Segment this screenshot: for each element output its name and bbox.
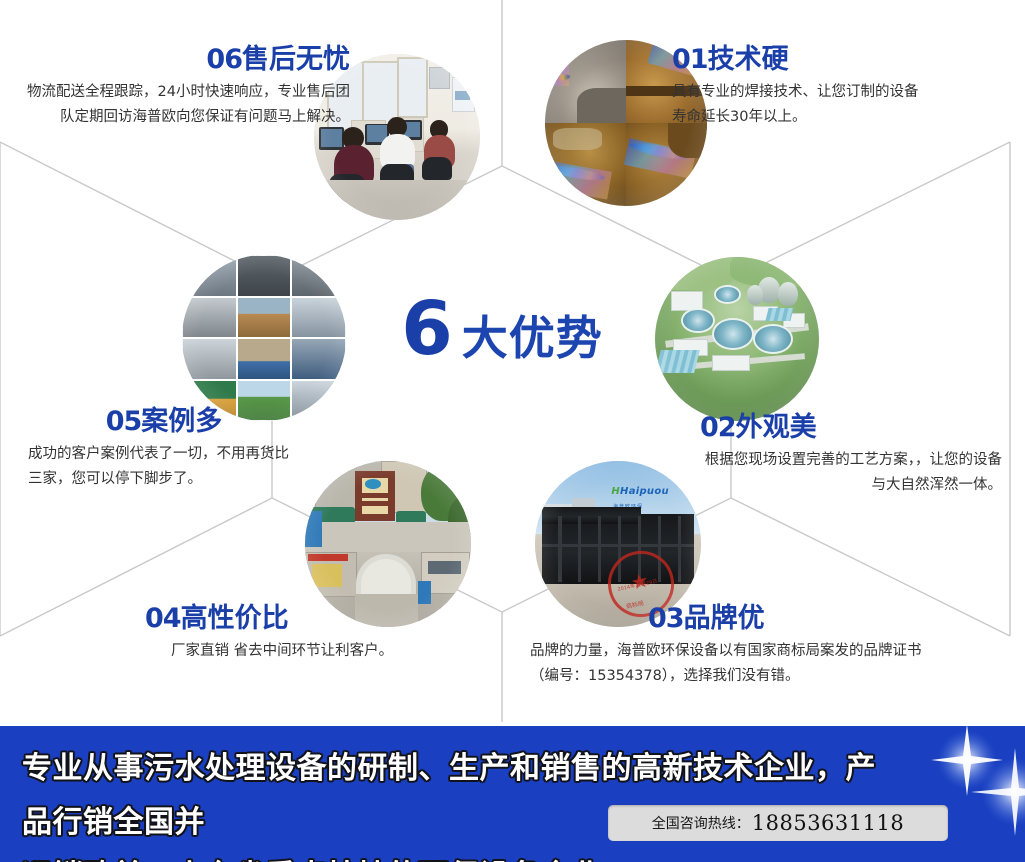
feature-01-body: 具有专业的焊接技术、让您订制的设备寿命延长30年以上。 — [672, 80, 924, 130]
feature-04: 04高性价比 厂家直销 省去中间环节让利客户。 — [145, 603, 435, 664]
banner-line-2: 远销欧美，山东省重点扶持的环保设备企业。 — [22, 850, 902, 862]
feature-02-number: 02 — [700, 412, 736, 443]
center-title: 6 大优势 — [382, 292, 622, 370]
feature-03-number: 03 — [648, 603, 684, 634]
feature-01-number: 01 — [672, 44, 708, 75]
feature-03-title: 品牌优 — [684, 603, 765, 634]
center-word: 大优势 — [462, 315, 603, 361]
feature-01-title: 技术硬 — [708, 44, 789, 75]
feature-06-title: 售后无忧 — [242, 44, 350, 75]
advantages-infographic: 6 大优势 — [0, 0, 1025, 862]
feature-04-number: 04 — [145, 603, 181, 634]
feature-03-heading: 03品牌优 — [648, 603, 930, 635]
feature-06-number: 06 — [206, 44, 242, 75]
banner-text: 专业从事污水处理设备的研制、生产和销售的高新技术企业，产品行销全国并 远销欧美，… — [22, 742, 902, 862]
equipment-brand-logo: HHaipuou — [611, 486, 669, 497]
feature-06-heading: 06售后无忧 — [20, 44, 350, 76]
feature-04-title: 高性价比 — [181, 603, 289, 634]
feature-05-title: 案例多 — [141, 406, 222, 437]
feature-02-heading: 02外观美 — [700, 412, 1002, 444]
feature-03: 03品牌优 品牌的力量，海普欧环保设备以有国家商标局案发的品牌证书（编号：153… — [530, 603, 930, 689]
feature-05: 05案例多 成功的客户案例代表了一切，不用再货比三家，您可以停下脚步了。 — [28, 406, 300, 492]
feature-04-heading: 04高性价比 — [145, 603, 435, 635]
sparkle-icon — [905, 726, 1025, 862]
feature-05-body: 成功的客户案例代表了一切，不用再货比三家，您可以停下脚步了。 — [28, 442, 300, 492]
feature-02: 02外观美 根据您现场设置完善的工艺方案，，让您的设备与大自然浑然一体。 — [700, 412, 1002, 498]
feature-04-body: 厂家直销 省去中间环节让利客户。 — [171, 639, 435, 664]
feature-06-body: 物流配送全程跟踪，24小时快速响应，专业售后团队定期回访海普欧向您保证有问题马上… — [20, 80, 350, 130]
hotline-box[interactable]: 全国咨询热线： 18853631118 — [608, 805, 948, 841]
hotline-number: 18853631118 — [752, 811, 904, 835]
feature-02-body: 根据您现场设置完善的工艺方案，，让您的设备与大自然浑然一体。 — [700, 448, 1002, 498]
feature-06: 06售后无忧 物流配送全程跟踪，24小时快速响应，专业售后团队定期回访海普欧向您… — [20, 44, 350, 130]
feature-05-heading: 05案例多 — [28, 406, 300, 438]
aerial-treatment-plant-photo — [655, 257, 819, 421]
bottom-banner: 专业从事污水处理设备的研制、生产和销售的高新技术企业，产品行销全国并 远销欧美，… — [0, 726, 1025, 862]
center-number: 6 — [401, 292, 452, 366]
feature-01-heading: 01技术硬 — [672, 44, 1002, 76]
feature-01: 01技术硬 具有专业的焊接技术、让您订制的设备寿命延长30年以上。 — [672, 44, 1002, 130]
feature-02-title: 外观美 — [736, 412, 817, 443]
hotline-label: 全国咨询热线： — [652, 813, 750, 833]
case-collage-photo — [182, 255, 346, 421]
feature-03-body: 品牌的力量，海普欧环保设备以有国家商标局案发的品牌证书（编号：15354378）… — [530, 639, 922, 689]
feature-05-number: 05 — [106, 406, 142, 437]
